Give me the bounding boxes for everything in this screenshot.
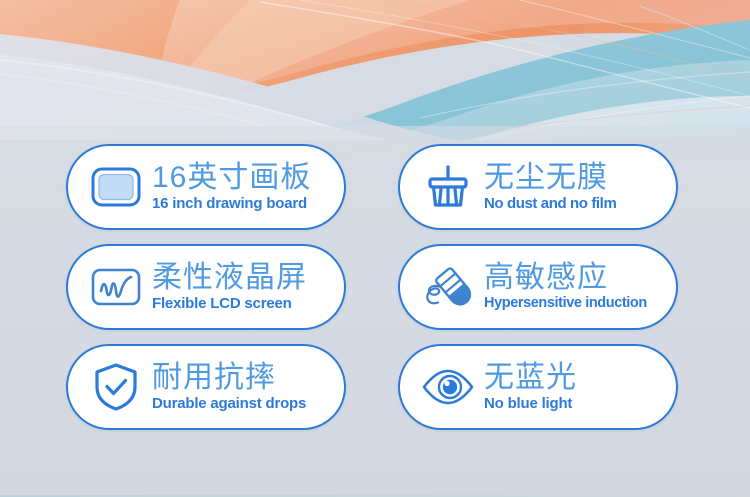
brush-icon — [420, 159, 476, 215]
lcd-screen-icon — [88, 259, 144, 315]
feature-card-drawing-board[interactable]: 16英寸画板 16 inch drawing board — [66, 144, 346, 230]
card-text: 无尘无膜 No dust and no film — [484, 163, 616, 211]
feature-card-durable[interactable]: 耐用抗摔 Durable against drops — [66, 344, 346, 430]
card-title-en: Durable against drops — [152, 396, 306, 411]
stylus-pen-icon — [420, 259, 476, 315]
card-title-en: 16 inch drawing board — [152, 196, 311, 211]
card-title-en: Hypersensitive induction — [484, 296, 647, 311]
feature-card-flexible-lcd[interactable]: 柔性液晶屏 Flexible LCD screen — [66, 244, 346, 330]
eye-icon — [420, 359, 476, 415]
card-text: 高敏感应 Hypersensitive induction — [484, 263, 647, 311]
card-title-cn: 无蓝光 — [484, 363, 577, 393]
feature-card-no-blue-light[interactable]: 无蓝光 No blue light — [398, 344, 678, 430]
decorative-wave-banner — [0, 0, 750, 160]
card-text: 16英寸画板 16 inch drawing board — [152, 163, 311, 211]
card-text: 耐用抗摔 Durable against drops — [152, 363, 306, 411]
feature-highlights-page: 16英寸画板 16 inch drawing board — [0, 0, 750, 497]
card-title-cn: 柔性液晶屏 — [152, 263, 307, 293]
drawing-board-icon — [88, 159, 144, 215]
card-title-cn: 高敏感应 — [484, 263, 647, 293]
feature-card-grid: 16英寸画板 16 inch drawing board — [66, 144, 686, 430]
feature-card-hypersensitive[interactable]: 高敏感应 Hypersensitive induction — [398, 244, 678, 330]
card-text: 无蓝光 No blue light — [484, 363, 577, 411]
card-title-en: No dust and no film — [484, 196, 616, 211]
feature-card-no-dust[interactable]: 无尘无膜 No dust and no film — [398, 144, 678, 230]
card-text: 柔性液晶屏 Flexible LCD screen — [152, 263, 307, 311]
card-title-cn: 16英寸画板 — [152, 163, 311, 193]
card-title-cn: 耐用抗摔 — [152, 363, 306, 393]
card-title-en: No blue light — [484, 396, 577, 411]
shield-check-icon — [88, 359, 144, 415]
card-title-cn: 无尘无膜 — [484, 163, 616, 193]
card-title-en: Flexible LCD screen — [152, 296, 307, 311]
